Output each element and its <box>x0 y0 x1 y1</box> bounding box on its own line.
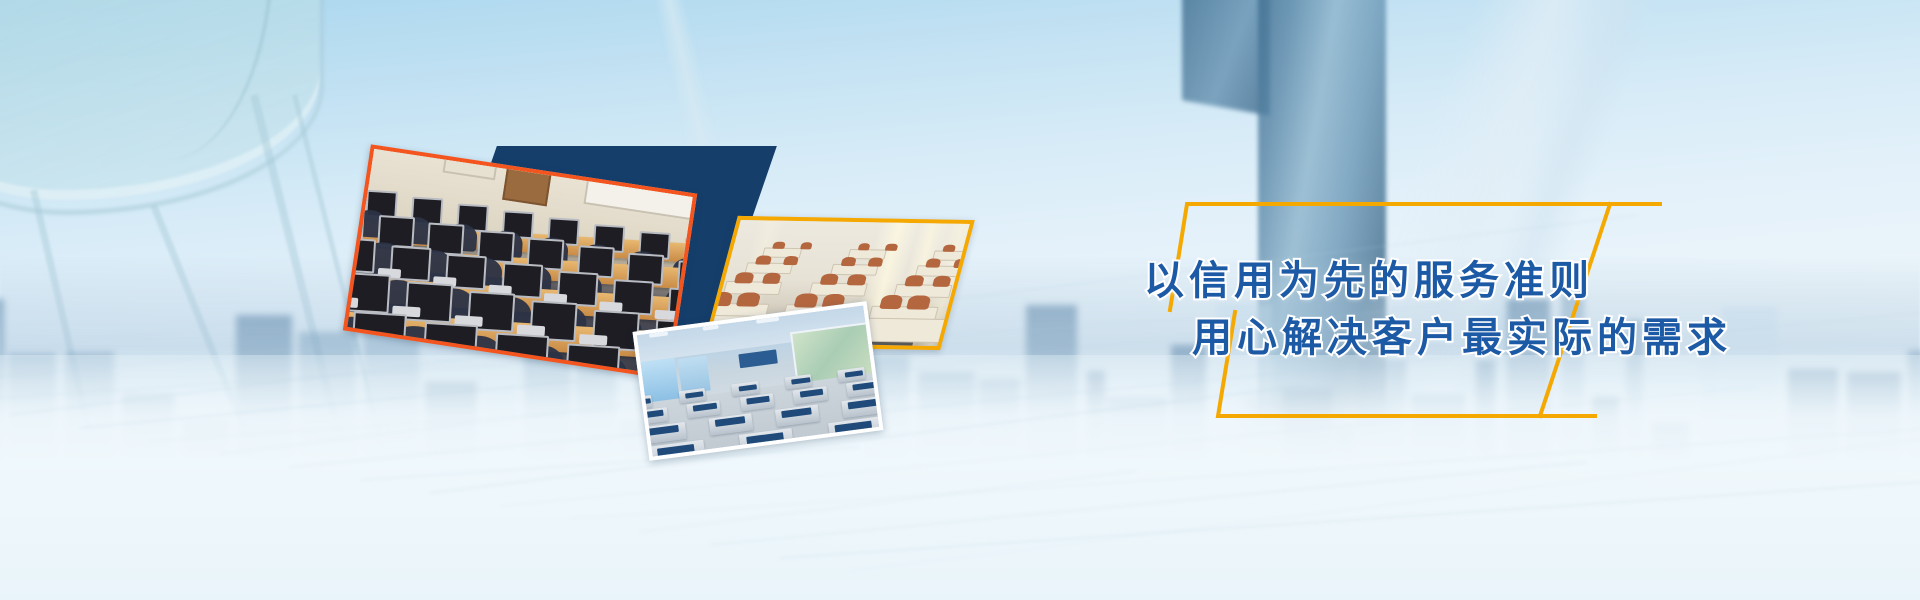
lab-keypad <box>410 349 444 363</box>
lab-keypad <box>347 339 373 353</box>
classroom-front-desk <box>862 318 970 344</box>
lab-monitor <box>347 208 364 241</box>
control-wall-screen <box>738 349 778 368</box>
slogan-line-2: 用心解决客户最实际的需求 <box>1192 310 1660 367</box>
lab-chair <box>347 365 394 375</box>
lab-keypad <box>552 371 586 375</box>
lab-monitor <box>422 321 477 369</box>
classroom-chair <box>819 273 840 285</box>
classroom-chair <box>762 272 783 284</box>
classroom-chair <box>906 295 931 309</box>
control-room-scene <box>637 306 879 457</box>
classroom-chair <box>734 272 755 284</box>
classroom-chair <box>783 255 800 265</box>
classroom-chair <box>755 255 772 265</box>
classroom-chair <box>736 292 761 306</box>
slogan-line-1: 以信用为先的服务准则 <box>1144 253 1660 310</box>
lab-monitor <box>347 237 376 274</box>
control-window <box>637 358 680 404</box>
classroom-chair <box>904 275 925 287</box>
classroom-chair <box>932 275 953 287</box>
classroom-chair <box>885 244 898 252</box>
classroom-chair <box>800 242 813 250</box>
hero-banner: 以信用为先的服务准则 用心解决客户最实际的需求 <box>0 0 1920 600</box>
classroom-chair <box>772 242 785 250</box>
classroom-chair <box>942 245 955 253</box>
classroom-chair <box>840 256 857 266</box>
classroom-chair <box>953 258 970 268</box>
classroom-chair <box>879 295 904 309</box>
lab-monitor <box>351 311 406 359</box>
lab-keypad <box>481 360 515 374</box>
lab-monitor <box>565 343 620 375</box>
photo-frame-inner <box>637 306 879 457</box>
classroom-chair <box>794 293 819 307</box>
lab-monitor <box>347 183 353 212</box>
lab-monitor <box>494 332 549 375</box>
lab-chair <box>347 233 353 266</box>
slogan-text: 以信用为先的服务准则 用心解决客户最实际的需求 <box>1140 200 1660 420</box>
classroom-chair <box>847 274 868 286</box>
lab-keypad <box>347 296 358 308</box>
slogan-block: 以信用为先的服务准则 用心解决客户最实际的需求 <box>1140 200 1660 420</box>
